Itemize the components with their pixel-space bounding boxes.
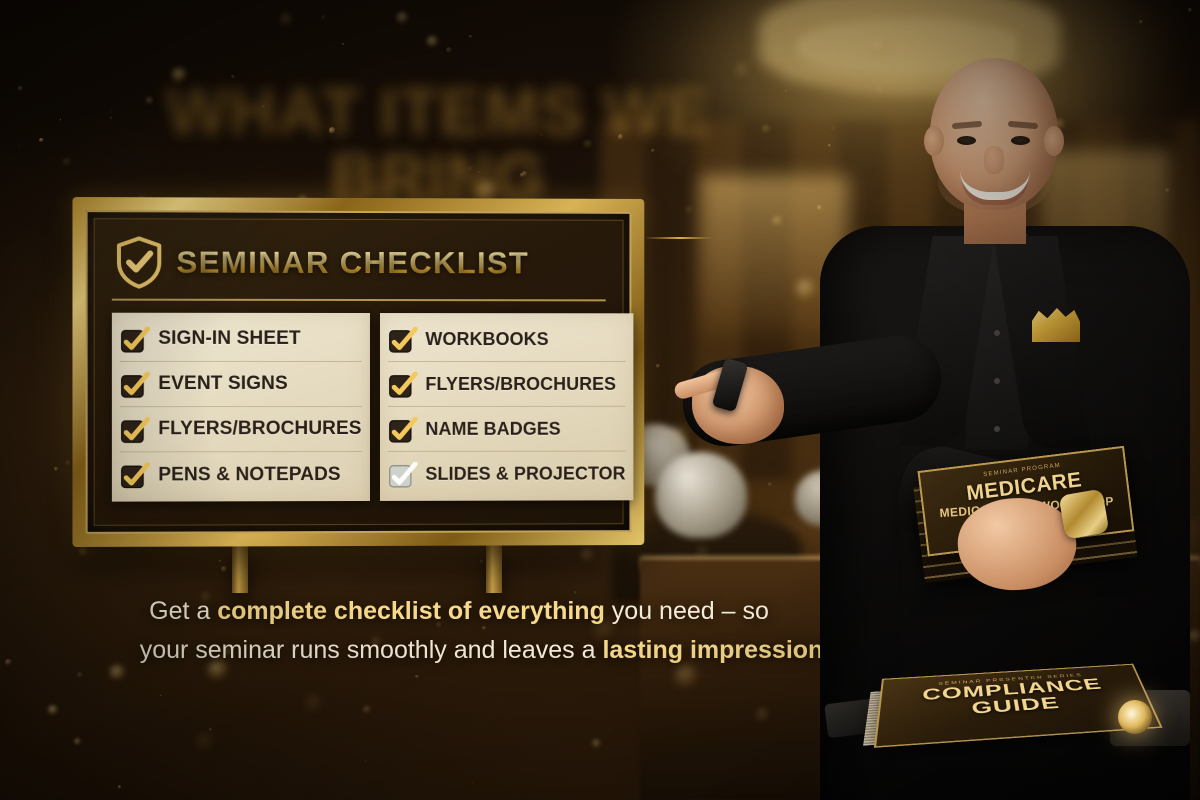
checklist-item[interactable]: EVENT SIGNS [120,362,362,407]
checklist-item[interactable]: SIGN-IN SHEET [120,317,362,362]
board-header: SEMINAR CHECKLIST [112,234,606,301]
caption-highlight: complete checklist of everything [217,597,605,625]
checkbox-checked-gold-icon[interactable] [120,462,147,487]
checkbox-checked-gold-icon[interactable] [388,327,415,352]
checklist-item[interactable]: FLYERS/BROCHURES [388,362,626,407]
checklist-item-label: SIGN-IN SHEET [158,328,300,350]
checkbox-checked-gold-icon[interactable] [120,326,147,351]
presenter-eye-left [957,136,976,145]
promo-banner: WHAT ITEMS WE BRING Seminar Checklist fo… [0,0,1200,800]
checklist-item-label: PENS & NOTEPADS [158,464,340,486]
shirt-button [994,330,1000,336]
presenter-eye-right [1011,136,1030,145]
checklist-board: SEMINAR CHECKLIST SIGN-IN SHEETEVENT SIG… [74,198,646,546]
checklist-item[interactable]: SLIDES & PROJECTOR [388,452,626,497]
pocket-square [1032,308,1080,342]
shirt-button [994,426,1000,432]
caption-text: your seminar runs smoothly and leaves a [140,636,603,664]
checkbox-checked-gold-icon[interactable] [120,417,147,442]
checklist-item-label: WORKBOOKS [425,329,548,350]
wristwatch [1059,489,1110,540]
checklist-item[interactable]: NAME BADGES [388,407,626,452]
checkbox-checked-gold-icon[interactable] [120,371,147,396]
checklist-item[interactable]: PENS & NOTEPADS [120,452,362,498]
board-title: SEMINAR CHECKLIST [176,245,529,282]
checkbox-checked-silver-icon[interactable] [388,462,415,487]
checklist-item-label: FLYERS/BROCHURES [425,373,616,394]
shield-check-icon [116,236,162,288]
checklist-item-label: FLYERS/BROCHURES [158,418,361,440]
caption-text: Get a [149,597,217,625]
shirt-button [994,378,1000,384]
checklist-item-label: SLIDES & PROJECTOR [425,464,625,485]
checkbox-checked-gold-icon[interactable] [388,372,415,397]
checklist-item-label: EVENT SIGNS [158,373,288,395]
checklist-column-right: WORKBOOKSFLYERS/BROCHURESNAME BADGESSLID… [380,313,634,501]
projector-lens [1118,700,1152,734]
checklist-item-label: NAME BADGES [425,418,560,439]
checklist-item[interactable]: WORKBOOKS [388,317,626,362]
checkbox-checked-gold-icon[interactable] [388,416,415,441]
checklist-column-left: SIGN-IN SHEETEVENT SIGNSFLYERS/BROCHURES… [112,313,370,502]
checklist-columns: SIGN-IN SHEETEVENT SIGNSFLYERS/BROCHURES… [112,313,606,502]
checklist-item[interactable]: FLYERS/BROCHURES [120,407,362,452]
